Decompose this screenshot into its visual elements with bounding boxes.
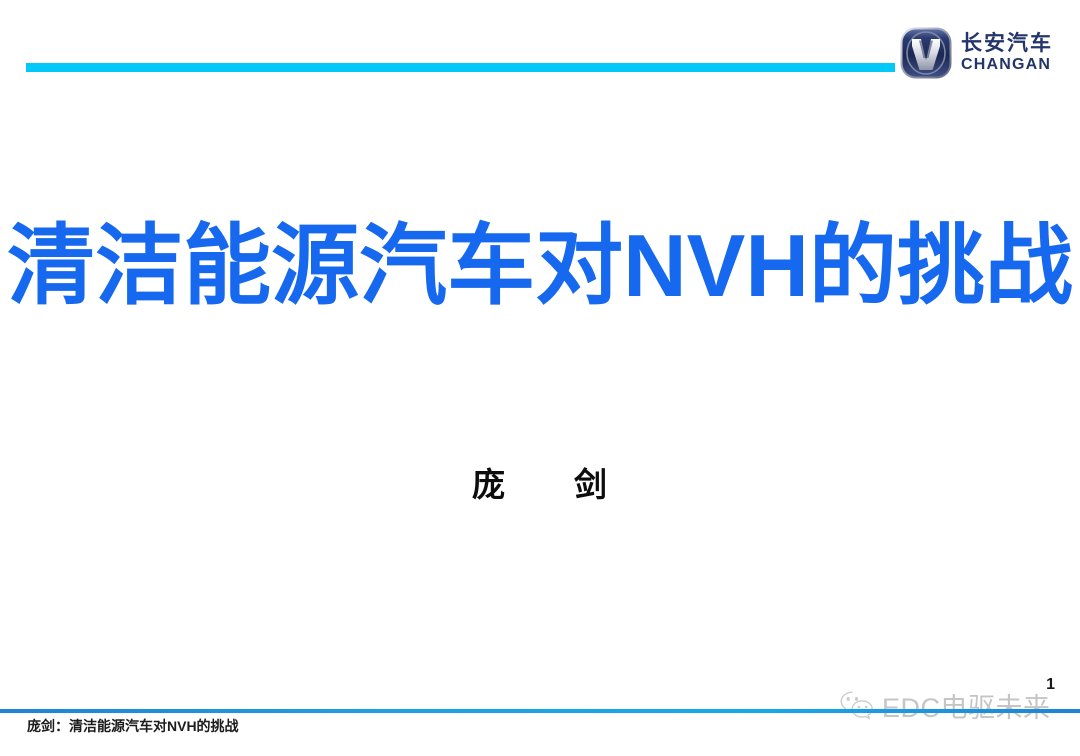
presenter-name: 庞 剑 [0,458,1080,506]
wechat-icon [838,689,876,723]
page-title: 清洁能源汽车对NVH的挑战 [0,216,1080,316]
brand-wordmark: 长安汽车 CHANGAN [961,33,1053,73]
presentation-slide: 长安汽车 CHANGAN 清洁能源汽车对NVH的挑战 庞 剑 1 E [0,0,1080,756]
watermark-label: EDC电驱未来 [882,686,1051,725]
brand-name-cn: 长安汽车 [961,33,1053,54]
header-accent-rule [26,63,895,72]
wechat-watermark: EDC电驱未来 [838,686,1051,725]
footer-label: 庞剑：清洁能源汽车对NVH的挑战 [27,716,239,736]
page-number: 1 [1046,676,1055,694]
changan-shield-logo-icon [899,26,953,80]
footer-rule [0,709,1080,713]
brand-name-en: CHANGAN [961,57,1053,73]
brand-logo: 长安汽车 CHANGAN [899,24,1069,82]
